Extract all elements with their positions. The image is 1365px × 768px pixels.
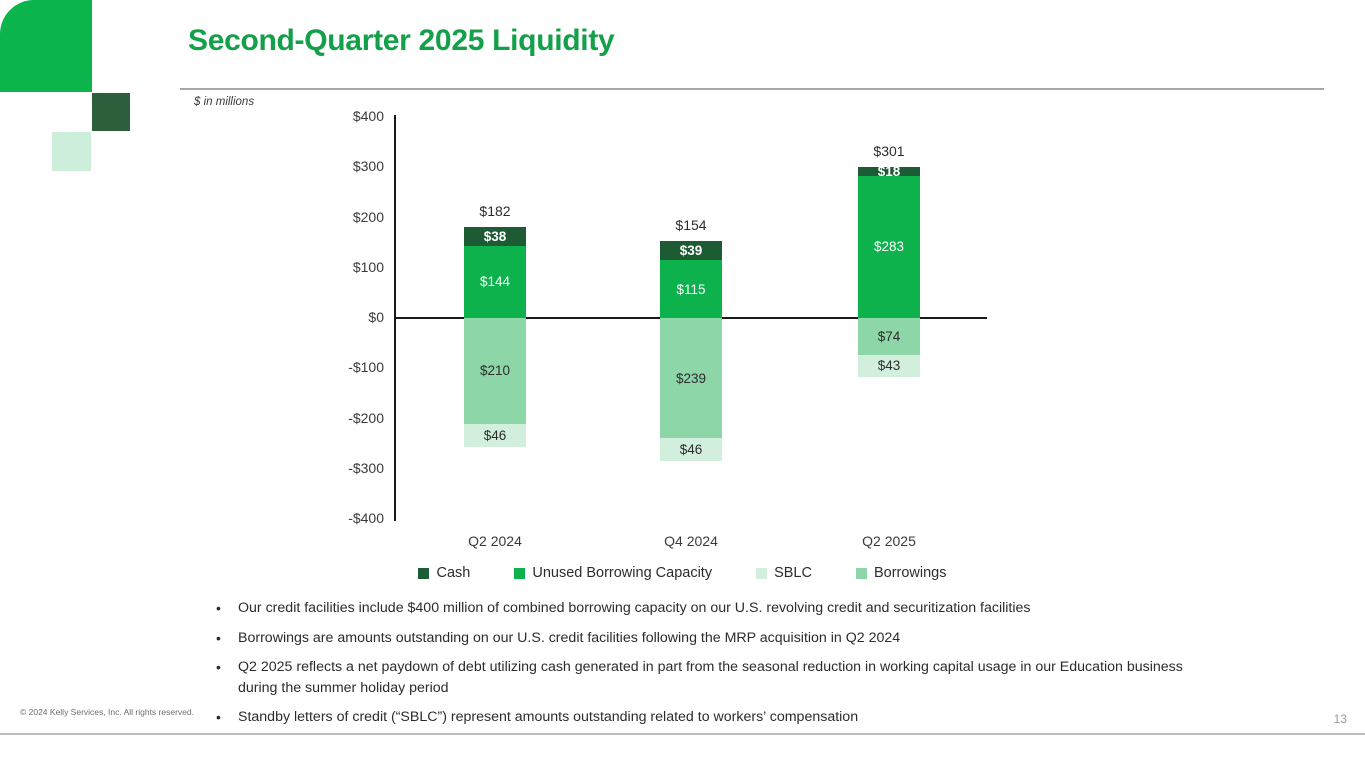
bullet-text: Our credit facilities include $400 milli… <box>238 598 1216 619</box>
legend-item-unused-borrowing-capacity[interactable]: Unused Borrowing Capacity <box>514 565 712 581</box>
bar-segment-cash: $18 <box>858 167 920 176</box>
slide-canvas: Second-Quarter 2025 Liquidity $ in milli… <box>0 0 1365 768</box>
legend-item-label: SBLC <box>774 565 812 581</box>
y-axis-tick-label: -$300 <box>328 460 384 476</box>
y-axis-tick-label: $200 <box>328 209 384 225</box>
legend-swatch-icon <box>418 568 429 579</box>
bar-segment-sblc: $43 <box>858 355 920 377</box>
y-axis-tick-label: -$400 <box>328 510 384 526</box>
y-axis-tick-label: $400 <box>328 108 384 124</box>
title-divider <box>180 88 1324 90</box>
bar-segment-sblc: $46 <box>660 438 722 461</box>
bar-total-label: $182 <box>435 203 555 219</box>
bar-segment-unused-borrowing-capacity: $144 <box>464 246 526 318</box>
bullet-item: •Borrowings are amounts outstanding on o… <box>216 628 1216 649</box>
bar-segment-sblc: $46 <box>464 424 526 447</box>
legend-item-label: Borrowings <box>874 565 947 581</box>
bar-segment-borrowings: $74 <box>858 318 920 355</box>
bullet-text: Borrowings are amounts outstanding on ou… <box>238 628 1216 649</box>
footer-divider <box>0 733 1365 735</box>
chart-units-label: $ in millions <box>194 96 254 108</box>
y-axis-tick-label: -$100 <box>328 359 384 375</box>
y-axis-tick-label: -$200 <box>328 410 384 426</box>
legend-item-cash[interactable]: Cash <box>418 565 470 581</box>
legend-item-borrowings[interactable]: Borrowings <box>856 565 947 581</box>
legend-item-label: Cash <box>436 565 470 581</box>
legend-item-sblc[interactable]: SBLC <box>756 565 812 581</box>
legend-item-label: Unused Borrowing Capacity <box>532 565 712 581</box>
legend-swatch-icon <box>514 568 525 579</box>
y-axis-tick-label: $0 <box>328 309 384 325</box>
x-axis-tick-label: Q2 2024 <box>435 533 555 549</box>
brand-block-light-icon <box>52 132 91 171</box>
bar-total-label: $301 <box>829 143 949 159</box>
bullet-list: •Our credit facilities include $400 mill… <box>216 598 1216 737</box>
bar-segment-unused-borrowing-capacity: $283 <box>858 176 920 318</box>
chart-legend: CashUnused Borrowing CapacitySBLCBorrowi… <box>0 565 1365 581</box>
bullet-item: •Our credit facilities include $400 mill… <box>216 598 1216 619</box>
page-title: Second-Quarter 2025 Liquidity <box>188 24 614 58</box>
bullet-text: Standby letters of credit (“SBLC”) repre… <box>238 707 1216 728</box>
bar-segment-borrowings: $239 <box>660 318 722 438</box>
y-axis <box>394 115 396 521</box>
y-axis-tick-label: $300 <box>328 158 384 174</box>
brand-block-dark-icon <box>92 93 130 131</box>
x-axis-tick-label: Q2 2025 <box>829 533 949 549</box>
bullet-dot-icon: • <box>216 598 238 619</box>
bar-total-label: $154 <box>631 217 751 233</box>
legend-swatch-icon <box>756 568 767 579</box>
bullet-dot-icon: • <box>216 707 238 728</box>
bar-segment-unused-borrowing-capacity: $115 <box>660 260 722 318</box>
bullet-text: Q2 2025 reflects a net paydown of debt u… <box>238 657 1216 698</box>
brand-block-primary-icon <box>0 0 92 92</box>
bar-segment-cash: $38 <box>464 227 526 246</box>
bullet-dot-icon: • <box>216 628 238 649</box>
bullet-item: •Q2 2025 reflects a net paydown of debt … <box>216 657 1216 698</box>
y-axis-tick-label: $100 <box>328 259 384 275</box>
zero-baseline <box>394 317 987 319</box>
legend-swatch-icon <box>856 568 867 579</box>
x-axis-tick-label: Q4 2024 <box>631 533 751 549</box>
page-number: 13 <box>1334 712 1347 726</box>
bullet-dot-icon: • <box>216 657 238 698</box>
bullet-item: •Standby letters of credit (“SBLC”) repr… <box>216 707 1216 728</box>
copyright-notice: © 2024 Kelly Services, Inc. All rights r… <box>20 707 194 717</box>
bar-segment-cash: $39 <box>660 241 722 261</box>
bar-segment-borrowings: $210 <box>464 318 526 424</box>
